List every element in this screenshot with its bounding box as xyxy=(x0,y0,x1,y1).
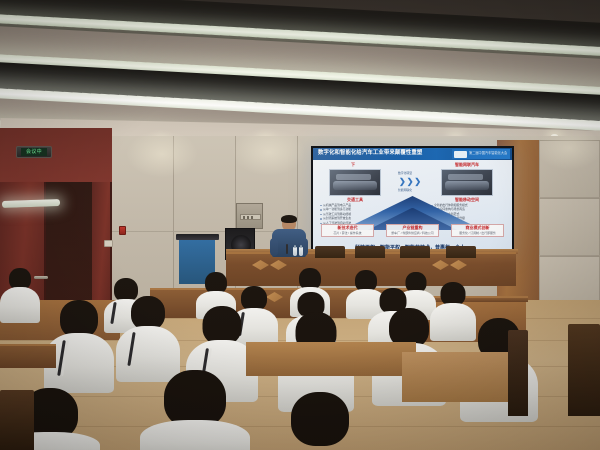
chair-back-4 xyxy=(446,246,476,258)
wall-light-glow-1 xyxy=(126,130,198,178)
slide-logo: 第二届中国汽车智能化大会 xyxy=(452,149,510,159)
chair-back-3 xyxy=(400,246,430,258)
left-photo-top-marker: 下 xyxy=(351,163,355,167)
desk-front-left xyxy=(0,344,56,368)
microphone xyxy=(286,244,288,254)
right-wall-panel-2 xyxy=(539,198,600,256)
chair-back-front-left xyxy=(0,390,34,450)
diamond-inlay xyxy=(432,260,449,270)
slide-bottom-box-2: 产业链重构 整车厂 / 零部件供应商 / 科技公司 xyxy=(386,224,439,237)
box-title: 商业模式创新 xyxy=(466,226,490,230)
right-wall-glow xyxy=(536,126,600,170)
chair-back-1 xyxy=(315,246,345,258)
water-bottle-2 xyxy=(299,247,303,256)
presentation-slide: 数字化和智能化给汽车工业带来颠覆性重塑 第二届中国汽车智能化大会 下 交通工具 … xyxy=(313,148,512,254)
audience-head xyxy=(131,296,165,330)
desk-front-right xyxy=(402,352,522,402)
control-dot-3 xyxy=(251,216,253,219)
projection-screen: 数字化和智能化给汽车工业带来颠覆性重塑 第二届中国汽车智能化大会 下 交通工具 … xyxy=(311,146,514,256)
chair-back-2 xyxy=(355,246,385,258)
cart-top-equipment xyxy=(176,234,219,240)
door-sign-text: 会议中 xyxy=(26,150,42,155)
diamond-inlay xyxy=(450,260,467,270)
slide-bottom-box-3: 商业模式创新 服务化 / 订阅制 / 出行即服务 xyxy=(451,224,504,237)
control-dot-2 xyxy=(247,216,249,219)
arrow-chevron-3: ❯ xyxy=(414,178,421,186)
slide-transition-arrow-icon: ❯ ❯ ❯ xyxy=(399,178,421,186)
presenter-arm-left xyxy=(270,238,278,256)
diamond-inlay xyxy=(270,260,287,270)
box-title: 产业链重构 xyxy=(403,226,423,230)
slide-title-bar: 数字化和智能化给汽车工业带来颠覆性重塑 第二届中国汽车智能化大会 xyxy=(313,148,512,160)
wall-light-glow-2 xyxy=(232,128,306,176)
audience-head xyxy=(291,392,349,446)
logo-mark-icon xyxy=(454,151,467,158)
diamond-inlay xyxy=(252,260,269,270)
control-panel-inner xyxy=(240,214,261,220)
slide-logo-text: 第二届中国汽车智能化大会 xyxy=(469,152,507,155)
chair-back-front-right xyxy=(508,330,528,416)
box-subtitle: 芯片 / 算法 / 操作系统 xyxy=(334,232,362,235)
box-title: 新技术迭代 xyxy=(338,226,358,230)
audience-member xyxy=(268,392,372,450)
slide-photo-connected-car xyxy=(441,169,493,196)
wall-control-panel[interactable] xyxy=(236,203,263,229)
audience-shoulders xyxy=(0,287,40,323)
door-status-display: 会议中 xyxy=(16,146,52,158)
wall-switch[interactable] xyxy=(104,240,113,247)
arrow-chevron-2: ❯ xyxy=(407,178,414,186)
door-sign-screen: 会议中 xyxy=(21,148,47,156)
audience-member xyxy=(140,370,250,450)
control-dot-1 xyxy=(243,216,245,219)
chair-back-far-right xyxy=(568,324,600,416)
slide-arrow-label-bottom: 智能网联化 xyxy=(398,189,412,192)
slide-right-photo-label: 智能网联汽车 xyxy=(441,163,493,167)
podium-diamond-group-2 xyxy=(432,260,467,270)
arrow-chevron-1: ❯ xyxy=(399,178,406,186)
slide-bottom-box-1: 新技术迭代 芯片 / 算法 / 操作系统 xyxy=(321,224,374,237)
presenter-hair xyxy=(281,215,297,223)
conference-room-photo: 会议中 数字化和智能化给汽车工业带来颠覆性重塑 第二届中国汽车智能化大会 下 交… xyxy=(0,0,600,450)
audience-shoulders xyxy=(140,420,250,450)
water-bottle-1 xyxy=(293,247,297,256)
slide-arrow-label-top: 数字化转型 xyxy=(398,172,412,175)
box-subtitle: 整车厂 / 零部件供应商 / 科技公司 xyxy=(391,232,433,235)
fire-alarm-icon xyxy=(119,226,126,235)
box-subtitle: 服务化 / 订阅制 / 出行即服务 xyxy=(459,232,496,235)
podium-diamond-group-1 xyxy=(252,260,287,270)
slide-photo-vehicle-interior xyxy=(329,169,381,196)
desk-front-center xyxy=(246,342,416,376)
audience-member xyxy=(0,268,40,324)
slide-title: 数字化和智能化给汽车工业带来颠覆性重塑 xyxy=(313,151,422,156)
